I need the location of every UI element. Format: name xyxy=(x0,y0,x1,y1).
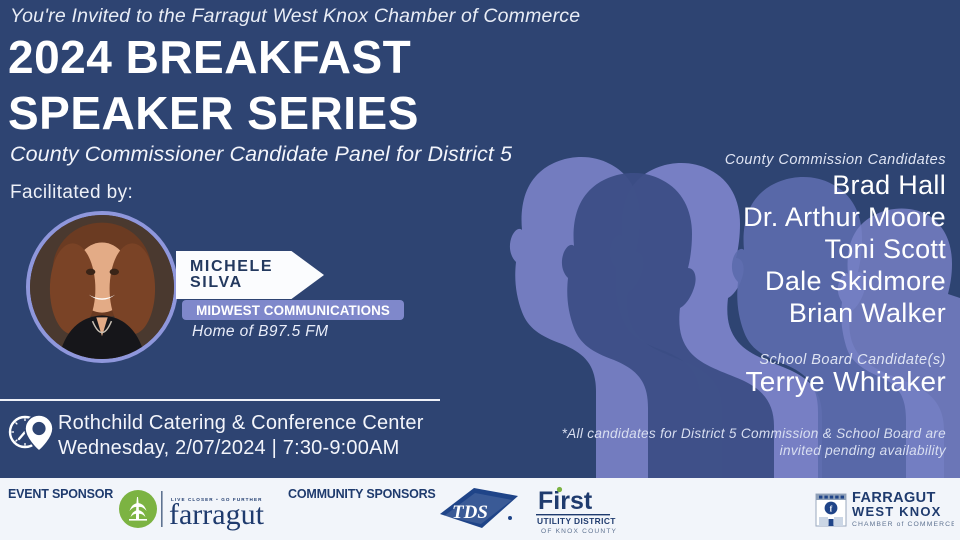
facilitator-organization-label: MIDWEST COMMUNICATIONS xyxy=(196,303,390,318)
tds-wordmark: TDS xyxy=(452,502,488,523)
svg-text:f: f xyxy=(830,505,833,514)
commission-candidate-name: Brad Hall xyxy=(832,172,946,199)
page-subtitle: County Commissioner Candidate Panel for … xyxy=(10,142,512,167)
commission-candidates-heading: County Commission Candidates xyxy=(725,152,946,168)
venue-name: Rothchild Catering & Conference Center xyxy=(58,412,424,435)
facilitator-tagline: Home of B97.5 FM xyxy=(192,323,328,341)
event-flyer: You're Invited to the Farragut West Knox… xyxy=(0,0,960,540)
facilitator-organization-bar: MIDWEST COMMUNICATIONS xyxy=(182,300,404,320)
farragut-wordmark: farragut xyxy=(169,498,265,531)
school-board-candidate-name: Terrye Whitaker xyxy=(745,368,946,396)
chamber-building-icon: f xyxy=(816,494,846,526)
event-sponsor-label: EVENT SPONSOR xyxy=(8,487,113,501)
first-utility-district-logo: First UTILITY DISTRICT OF KNOX COUNTY xyxy=(528,483,620,537)
facilitated-by-label: Facilitated by: xyxy=(10,182,133,204)
first-wordmark: First xyxy=(538,487,593,515)
first-line2: UTILITY DISTRICT xyxy=(537,516,616,526)
facilitator-name-line1: MICHELE xyxy=(190,259,324,275)
farragut-logo: LIVE CLOSER • GO FURTHER farragut xyxy=(116,483,281,535)
farragut-west-knox-chamber-logo: f FARRAGUT WEST KNOX CHAMBER of COMMERCE xyxy=(812,486,954,532)
venue-datetime: Wednesday, 2/07/2024 | 7:30-9:00AM xyxy=(58,437,399,460)
chamber-line2: WEST KNOX xyxy=(852,504,942,519)
first-line3: OF KNOX COUNTY xyxy=(541,528,617,535)
disclaimer-line2: invited pending availability xyxy=(466,441,946,461)
facilitator-name-line2: SILVA xyxy=(190,275,324,291)
page-title-line1: 2024 BREAKFAST xyxy=(8,34,411,80)
divider xyxy=(0,399,440,401)
commission-candidate-name: Dale Skidmore xyxy=(765,268,946,295)
chamber-line3: CHAMBER of COMMERCE xyxy=(852,521,954,528)
commission-candidate-name: Toni Scott xyxy=(824,236,946,263)
community-sponsors-label: COMMUNITY SPONSORS xyxy=(288,487,436,501)
commission-candidate-name: Dr. Arthur Moore xyxy=(743,204,946,231)
clock-map-pin-icon xyxy=(8,408,54,454)
commission-candidate-name: Brian Walker xyxy=(789,300,946,327)
tds-logo: TDS xyxy=(434,484,522,534)
headshot-image xyxy=(30,215,174,359)
avatar xyxy=(26,211,178,363)
page-title-line2: SPEAKER SERIES xyxy=(8,90,419,136)
invite-line: You're Invited to the Farragut West Knox… xyxy=(10,5,580,28)
